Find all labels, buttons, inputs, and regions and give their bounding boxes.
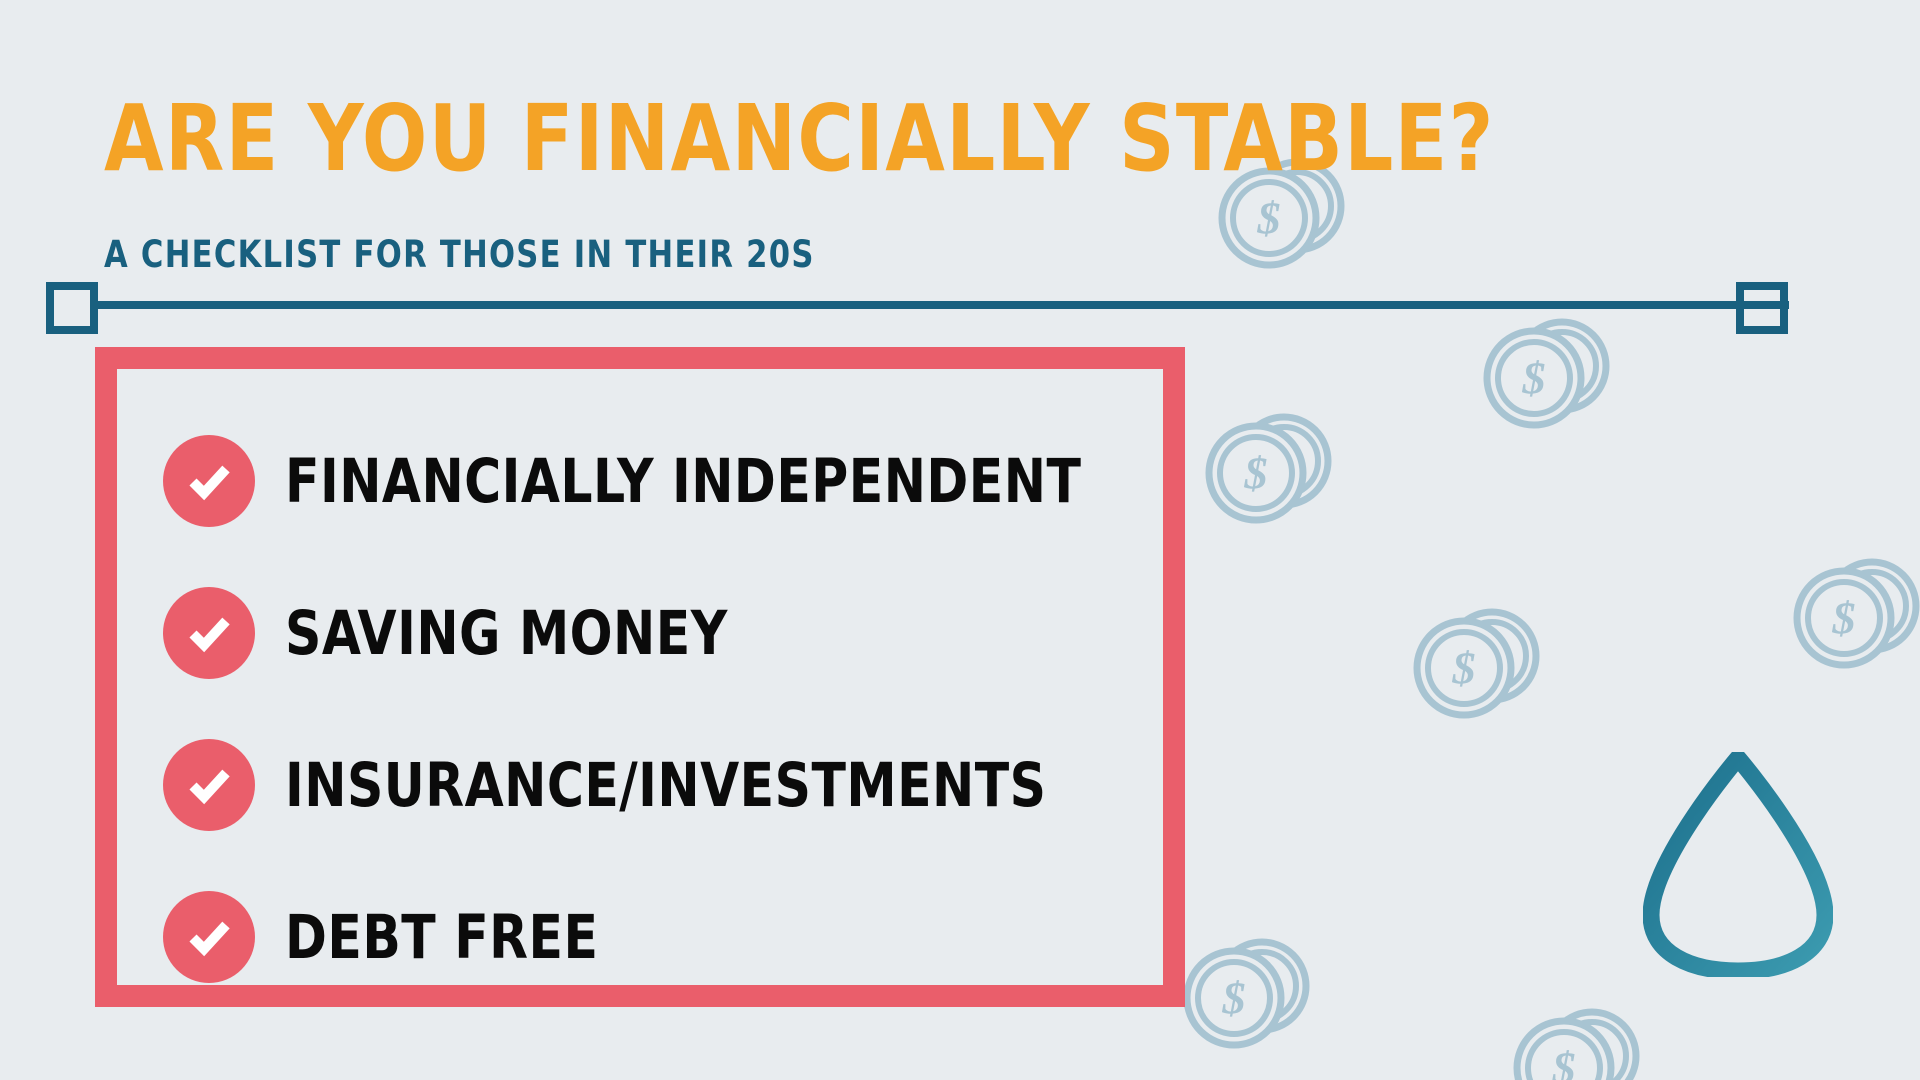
check-circle-icon [163, 891, 255, 983]
divider-line [92, 301, 1789, 309]
list-item[interactable]: SAVING MONEY [163, 557, 1143, 709]
list-item[interactable]: FINANCIALLY INDEPENDENT [163, 405, 1143, 557]
coin-stack-icon [1517, 1012, 1636, 1080]
coin-stack-icon [1187, 942, 1306, 1045]
checklist: FINANCIALLY INDEPENDENT SAVING MONEY INS… [163, 405, 1143, 1013]
page-title: ARE YOU FINANCIALLY STABLE? [104, 93, 1495, 185]
divider-right-square-cap [1736, 282, 1788, 334]
list-item-label: INSURANCE/INVESTMENTS [285, 755, 1046, 816]
coin-stack-icon [1417, 612, 1536, 715]
divider-left-square-cap [46, 282, 98, 334]
check-circle-icon [163, 435, 255, 527]
list-item[interactable]: DEBT FREE [163, 861, 1143, 1013]
coin-stack-icon [1487, 322, 1606, 425]
list-item-label: FINANCIALLY INDEPENDENT [285, 451, 1081, 512]
list-item[interactable]: INSURANCE/INVESTMENTS [163, 709, 1143, 861]
divider [46, 282, 1836, 328]
leaf-drop-logo [1643, 752, 1833, 977]
coin-stack-icon [1209, 417, 1328, 520]
check-circle-icon [163, 739, 255, 831]
coin-stack-icon [1797, 562, 1916, 665]
infographic-canvas: $ ARE YOU FINANCIALLY STABLE? A CHECKLIS… [0, 0, 1920, 1080]
check-circle-icon [163, 587, 255, 679]
list-item-label: SAVING MONEY [285, 603, 728, 664]
list-item-label: DEBT FREE [285, 907, 598, 968]
page-subtitle: A CHECKLIST FOR THOSE IN THEIR 20S [104, 236, 815, 273]
